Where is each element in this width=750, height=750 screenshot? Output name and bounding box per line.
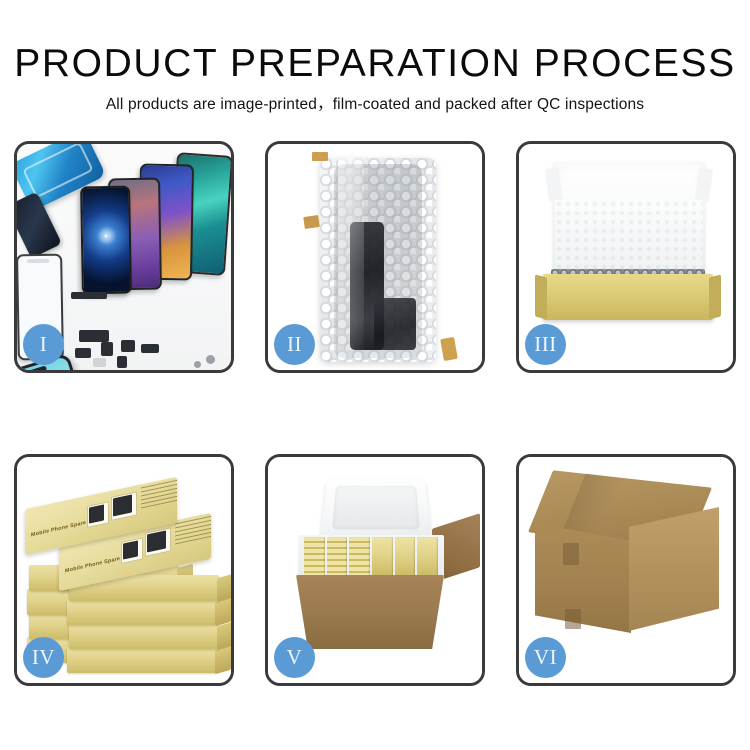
lid-spec-lines bbox=[141, 478, 177, 508]
yellow-box bbox=[372, 537, 393, 577]
yellow-box bbox=[395, 537, 416, 577]
small-part-icon bbox=[141, 344, 159, 353]
foam-lid-icon bbox=[320, 479, 431, 539]
process-step-panel-4[interactable]: Mobile Phone Spare Parts Mobile Phone Sp… bbox=[14, 454, 234, 686]
small-part-icon bbox=[117, 356, 127, 368]
small-part-icon bbox=[71, 292, 107, 299]
tape-strip-icon bbox=[303, 215, 320, 229]
small-part-icon bbox=[79, 330, 109, 342]
process-step-panel-3[interactable]: III bbox=[516, 141, 736, 373]
process-step-panel-5[interactable]: V bbox=[265, 454, 485, 686]
yellow-boxes-row bbox=[304, 537, 438, 577]
lcd-panel-icon bbox=[14, 191, 62, 258]
small-part-icon bbox=[75, 348, 91, 358]
wrapped-part-icon bbox=[374, 298, 416, 350]
yellow-box bbox=[349, 537, 370, 577]
process-step-grid: I II III bbox=[14, 141, 736, 686]
yellow-box bbox=[327, 537, 348, 577]
stacked-box bbox=[67, 599, 217, 625]
step-badge-3: III bbox=[525, 324, 566, 365]
page-title: PRODUCT PREPARATION PROCESS bbox=[0, 0, 750, 84]
page-subtitle: All products are image-printed，film-coat… bbox=[0, 84, 750, 114]
step-badge-4: IV bbox=[23, 637, 64, 678]
lid-spec-lines bbox=[175, 514, 211, 544]
stacked-box bbox=[67, 647, 217, 673]
screw-icon bbox=[194, 361, 201, 368]
yellow-box bbox=[304, 537, 325, 577]
tape-strip-icon bbox=[440, 337, 458, 361]
yellow-inner-box-icon bbox=[543, 274, 713, 320]
yellow-box bbox=[417, 537, 438, 577]
step-badge-6: VI bbox=[525, 637, 566, 678]
page-header: PRODUCT PREPARATION PROCESS All products… bbox=[0, 0, 750, 114]
process-step-panel-1[interactable]: I bbox=[14, 141, 234, 373]
carton-body-icon bbox=[296, 575, 444, 649]
bubble-wrap-bag-icon bbox=[320, 158, 436, 362]
step-badge-5: V bbox=[274, 637, 315, 678]
carton-left-face bbox=[535, 523, 631, 633]
small-part-icon bbox=[93, 358, 106, 367]
tape-strip-icon bbox=[312, 152, 328, 161]
lid-chip bbox=[89, 504, 104, 523]
step-badge-1: I bbox=[23, 324, 64, 365]
stacked-box bbox=[69, 623, 219, 649]
phone-screen-blue-icon bbox=[80, 186, 132, 295]
small-part-icon bbox=[121, 340, 135, 352]
process-step-panel-6[interactable]: VI bbox=[516, 454, 736, 686]
screw-icon bbox=[206, 355, 215, 364]
tape-patch-icon bbox=[563, 543, 579, 565]
step-badge-2: II bbox=[274, 324, 315, 365]
small-part-icon bbox=[101, 342, 113, 356]
tape-patch-icon bbox=[565, 609, 581, 629]
carton-right-face bbox=[629, 507, 719, 631]
lid-chip bbox=[123, 540, 138, 559]
process-step-panel-2[interactable]: II bbox=[265, 141, 485, 373]
